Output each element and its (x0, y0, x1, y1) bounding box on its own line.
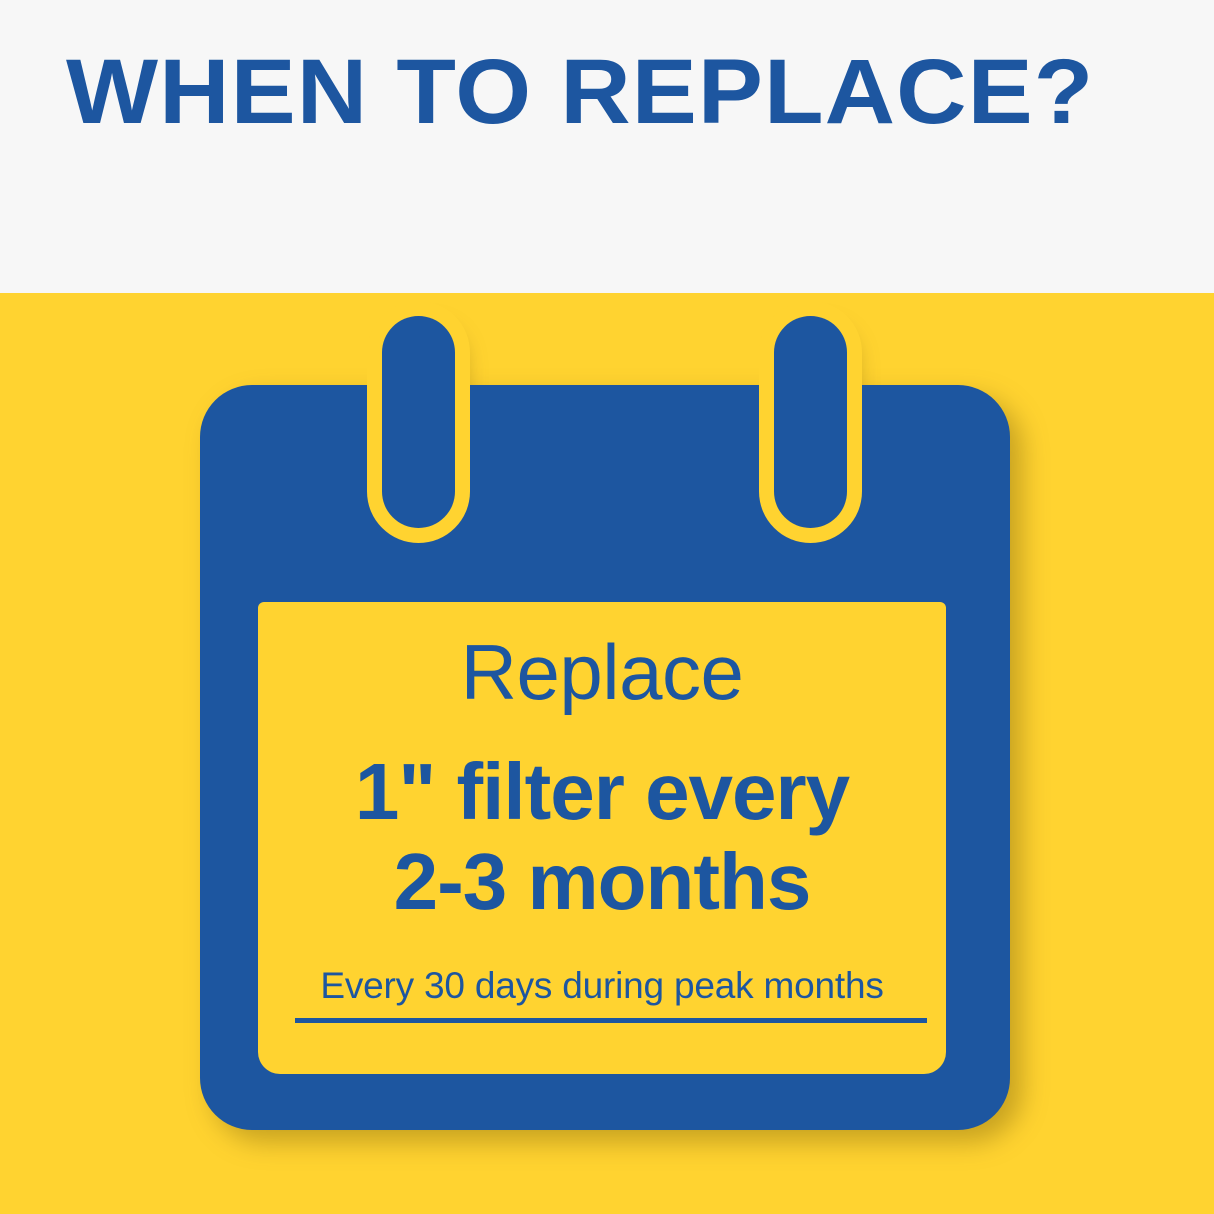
replace-subtext-underline (295, 1018, 927, 1023)
replace-subtext: Every 30 days during peak months (278, 964, 926, 1008)
calendar-icon: Replace 1" filter every 2-3 months Every… (0, 293, 1214, 1214)
calendar-ring-left (382, 316, 455, 528)
header-band: WHEN TO REPLACE? (0, 0, 1214, 293)
calendar-ring-right (774, 316, 847, 528)
yellow-panel: Replace 1" filter every 2-3 months Every… (0, 293, 1214, 1214)
replace-headline-line-1: 1" filter every (258, 747, 946, 837)
replace-eyebrow: Replace (258, 631, 946, 713)
poster-root: WHEN TO REPLACE? Replace 1" filter every (0, 0, 1214, 1214)
page-title: WHEN TO REPLACE? (66, 44, 1041, 140)
replace-headline: 1" filter every 2-3 months (258, 747, 946, 927)
replace-headline-line-2: 2-3 months (258, 837, 946, 927)
calendar-content: Replace 1" filter every 2-3 months Every… (258, 602, 946, 1074)
